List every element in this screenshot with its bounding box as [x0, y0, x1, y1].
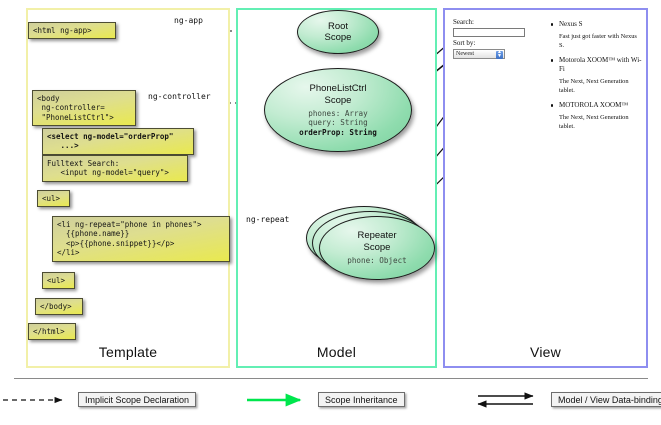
view-search-form: Search: Sort by: Newest ▲▼ [453, 18, 531, 59]
chevron-updown-icon[interactable]: ▲▼ [496, 51, 503, 59]
model-scope-repeater: RepeaterScope phone: Object [319, 216, 435, 280]
phone-name: MOTOROLA XOOM™ [550, 101, 642, 110]
panel-view: View Search: Sort by: Newest ▲▼ Nexus S … [443, 8, 648, 368]
phone-snippet: Fast just got faster with Nexus S. [550, 32, 642, 50]
phone-snippet: The Next, Next Generation tablet. [550, 77, 642, 95]
panel-model-label: Model [238, 344, 435, 360]
legend-scope-inheritance: Scope Inheritance [318, 392, 405, 407]
legend: Implicit Scope Declaration Scope Inherit… [14, 378, 648, 418]
model-scope-phonelistctrl: PhoneListCtrlScope phones: Array query: … [264, 68, 412, 152]
phone-snippet: The Next, Next Generation tablet. [550, 113, 642, 131]
phonelistctrl-scope-props: phones: Array query: String orderProp: S… [299, 109, 377, 137]
legend-implicit-scope-declaration: Implicit Scope Declaration [78, 392, 196, 407]
template-box-ul-close: <ul> [42, 272, 75, 289]
list-item: Nexus S Fast just got faster with Nexus … [550, 20, 642, 50]
template-box-body-close: </body> [35, 298, 83, 315]
legend-divider [14, 378, 648, 379]
search-input[interactable] [453, 28, 525, 37]
template-box-ul-open: <ul> [37, 190, 70, 207]
edge-label-ng-app: ng-app [174, 16, 203, 25]
search-label: Search: [453, 18, 531, 27]
repeater-scope-title: RepeaterScope [357, 230, 396, 253]
root-scope-title: RootScope [325, 21, 352, 44]
list-item: Motorola XOOM™ with Wi-Fi The Next, Next… [550, 56, 642, 95]
template-box-select: <select ng-model="orderProp" ...> [42, 128, 194, 155]
panel-template-label: Template [28, 344, 228, 360]
list-item: MOTOROLA XOOM™ The Next, Next Generation… [550, 101, 642, 131]
template-box-li-repeat: <li ng-repeat="phone in phones"> {{phone… [52, 216, 230, 262]
sort-select-value: Newest [456, 51, 474, 57]
phone-list: Nexus S Fast just got faster with Nexus … [550, 20, 642, 137]
phonelistctrl-props-plain: phones: Array query: String [308, 109, 367, 127]
sort-select[interactable]: Newest ▲▼ [453, 49, 505, 59]
template-box-html-close: </html> [28, 323, 76, 340]
template-box-body-tag: <body ng-controller= "PhoneListCtrl"> [32, 90, 136, 126]
phone-name: Nexus S [550, 20, 642, 29]
model-scope-root: RootScope [297, 10, 379, 54]
sort-by-label: Sort by: [453, 39, 531, 48]
edge-label-ng-repeat: ng-repeat [246, 215, 289, 224]
template-box-fulltext: Fulltext Search: <input ng-model="query"… [42, 155, 188, 182]
panel-model: Model [236, 8, 437, 368]
phonelistctrl-scope-title: PhoneListCtrlScope [309, 83, 366, 106]
phonelistctrl-props-orderprop: orderProp: String [299, 128, 377, 137]
template-box-html-tag: <html ng-app> [28, 22, 116, 39]
legend-model-view-data-binding: Model / View Data-binding [551, 392, 661, 407]
phone-name: Motorola XOOM™ with Wi-Fi [550, 56, 642, 74]
repeater-scope-props: phone: Object [347, 256, 406, 265]
panel-view-label: View [445, 344, 646, 360]
edge-label-ng-controller: ng-controller [148, 92, 211, 101]
diagram-canvas: Template <html ng-app> <body ng-controll… [0, 0, 661, 425]
